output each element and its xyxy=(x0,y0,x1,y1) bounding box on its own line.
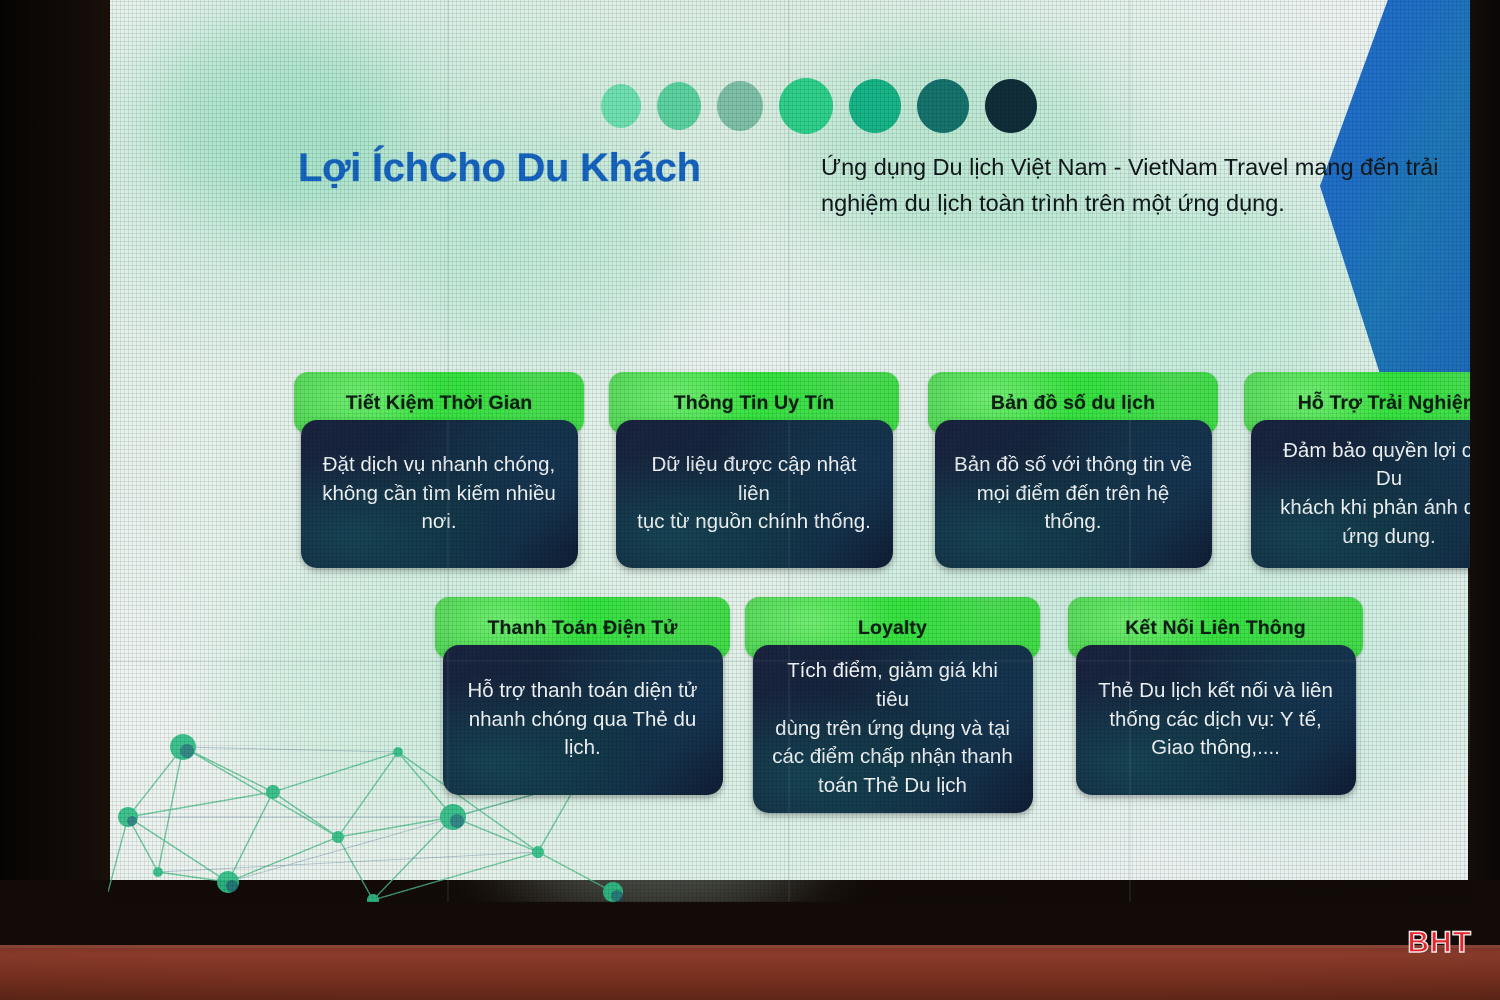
benefit-card[interactable]: Loyalty Tích điểm, giảm giá khi tiêu dùn… xyxy=(745,597,1040,813)
benefit-card-line: lịch. xyxy=(467,734,697,763)
benefit-card-line: toán Thẻ Du lịch xyxy=(771,772,1015,801)
benefit-card-line: ứng dung. xyxy=(1269,523,1471,552)
benefit-card-line: Đảm bảo quyền lợi cho Du xyxy=(1269,437,1471,494)
benefit-card-line: dùng trên ứng dụng và tại xyxy=(771,715,1015,744)
benefit-card-body: Dữ liệu được cập nhật liên tục từ nguồn … xyxy=(616,420,893,568)
benefit-card-line: khách khi phản ánh qua xyxy=(1269,494,1471,523)
benefit-card-body: Thẻ Du lịch kết nối và liên thống các dị… xyxy=(1076,645,1356,795)
benefit-card-line: Thẻ Du lịch kết nối và liên xyxy=(1098,677,1333,706)
benefit-card-title: Loyalty xyxy=(858,617,927,640)
benefit-card-line: Bản đồ số với thông tin về xyxy=(954,451,1192,480)
benefit-card-line: nhanh chóng qua Thẻ du xyxy=(467,706,697,735)
benefit-card-body: Tích điểm, giảm giá khi tiêu dùng trên ứ… xyxy=(753,645,1033,813)
dot-6 xyxy=(917,79,969,133)
dot-7 xyxy=(985,79,1037,133)
benefit-card-body: Đặt dịch vụ nhanh chóng, không cần tìm k… xyxy=(301,420,578,568)
benefit-card-title: Thông Tin Uy Tín xyxy=(674,392,834,415)
benefit-card-body: Đảm bảo quyền lợi cho Du khách khi phản … xyxy=(1251,420,1471,568)
benefit-card-line: Tích điểm, giảm giá khi tiêu xyxy=(771,657,1015,714)
benefit-card[interactable]: Tiết Kiệm Thời Gian Đặt dịch vụ nhanh ch… xyxy=(294,372,584,568)
benefit-card[interactable]: Thanh Toán Điện Tử Hỗ trợ thanh toán diệ… xyxy=(435,597,730,795)
dot-5 xyxy=(849,79,901,133)
benefit-card[interactable]: Thông Tin Uy Tín Dữ liệu được cập nhật l… xyxy=(609,372,899,568)
benefit-card-line: Hỗ trợ thanh toán diện tử xyxy=(467,677,697,706)
benefit-card-body: Hỗ trợ thanh toán diện tử nhanh chóng qu… xyxy=(443,645,723,795)
benefit-card-line: không cần tìm kiếm nhiều xyxy=(322,480,556,509)
benefit-card-line: thống các dịch vụ: Y tế, xyxy=(1098,706,1333,735)
bht-watermark-logo: BHT xyxy=(1407,926,1472,960)
benefit-card-line: tục từ nguồn chính thống. xyxy=(634,508,875,537)
benefit-card-title: Tiết Kiệm Thời Gian xyxy=(346,392,533,415)
benefit-card-line: Đặt dịch vụ nhanh chóng, xyxy=(322,451,556,480)
benefit-card-line: mọi điểm đến trên hệ xyxy=(954,480,1192,509)
bg-blob xyxy=(798,30,1118,260)
benefit-card-line: thống. xyxy=(954,508,1192,537)
dot-2 xyxy=(657,82,701,130)
benefit-card[interactable]: Hỗ Trợ Trải Nghiệm Đảm bảo quyền lợi cho… xyxy=(1244,372,1470,568)
dot-4 xyxy=(779,78,833,134)
presentation-photo: Lợi ÍchCho Du Khách Ứng dụng Du lịch Việ… xyxy=(0,0,1500,1000)
venue-left-dark-area xyxy=(0,0,110,1000)
led-screen: Lợi ÍchCho Du Khách Ứng dụng Du lịch Việ… xyxy=(108,0,1470,902)
stage-front-panel xyxy=(0,945,1500,1000)
benefit-card-title: Bản đồ số du lịch xyxy=(991,392,1155,415)
benefit-card-line: nơi. xyxy=(322,508,556,537)
dot-3 xyxy=(717,81,763,131)
benefit-card-line: Dữ liệu được cập nhật liên xyxy=(634,451,875,508)
benefit-card-line: Giao thông,.... xyxy=(1098,734,1333,763)
venue-right-dark-area xyxy=(1468,0,1500,1000)
benefit-card-title: Hỗ Trợ Trải Nghiệm xyxy=(1298,392,1470,415)
page-title: Lợi ÍchCho Du Khách xyxy=(298,146,701,191)
benefit-card-title: Kết Nối Liên Thông xyxy=(1125,617,1306,640)
page-subtitle: Ứng dụng Du lịch Việt Nam - VietNam Trav… xyxy=(821,150,1461,221)
dot-1 xyxy=(601,84,641,128)
decorative-dot-row xyxy=(601,78,1037,134)
benefit-card-title: Thanh Toán Điện Tử xyxy=(488,617,678,640)
benefit-card[interactable]: Bản đồ số du lịch Bản đồ số với thông ti… xyxy=(928,372,1218,568)
benefit-card-body: Bản đồ số với thông tin về mọi điểm đến … xyxy=(935,420,1212,568)
benefit-card[interactable]: Kết Nối Liên Thông Thẻ Du lịch kết nối v… xyxy=(1068,597,1363,795)
benefit-card-line: các điểm chấp nhận thanh xyxy=(771,743,1015,772)
